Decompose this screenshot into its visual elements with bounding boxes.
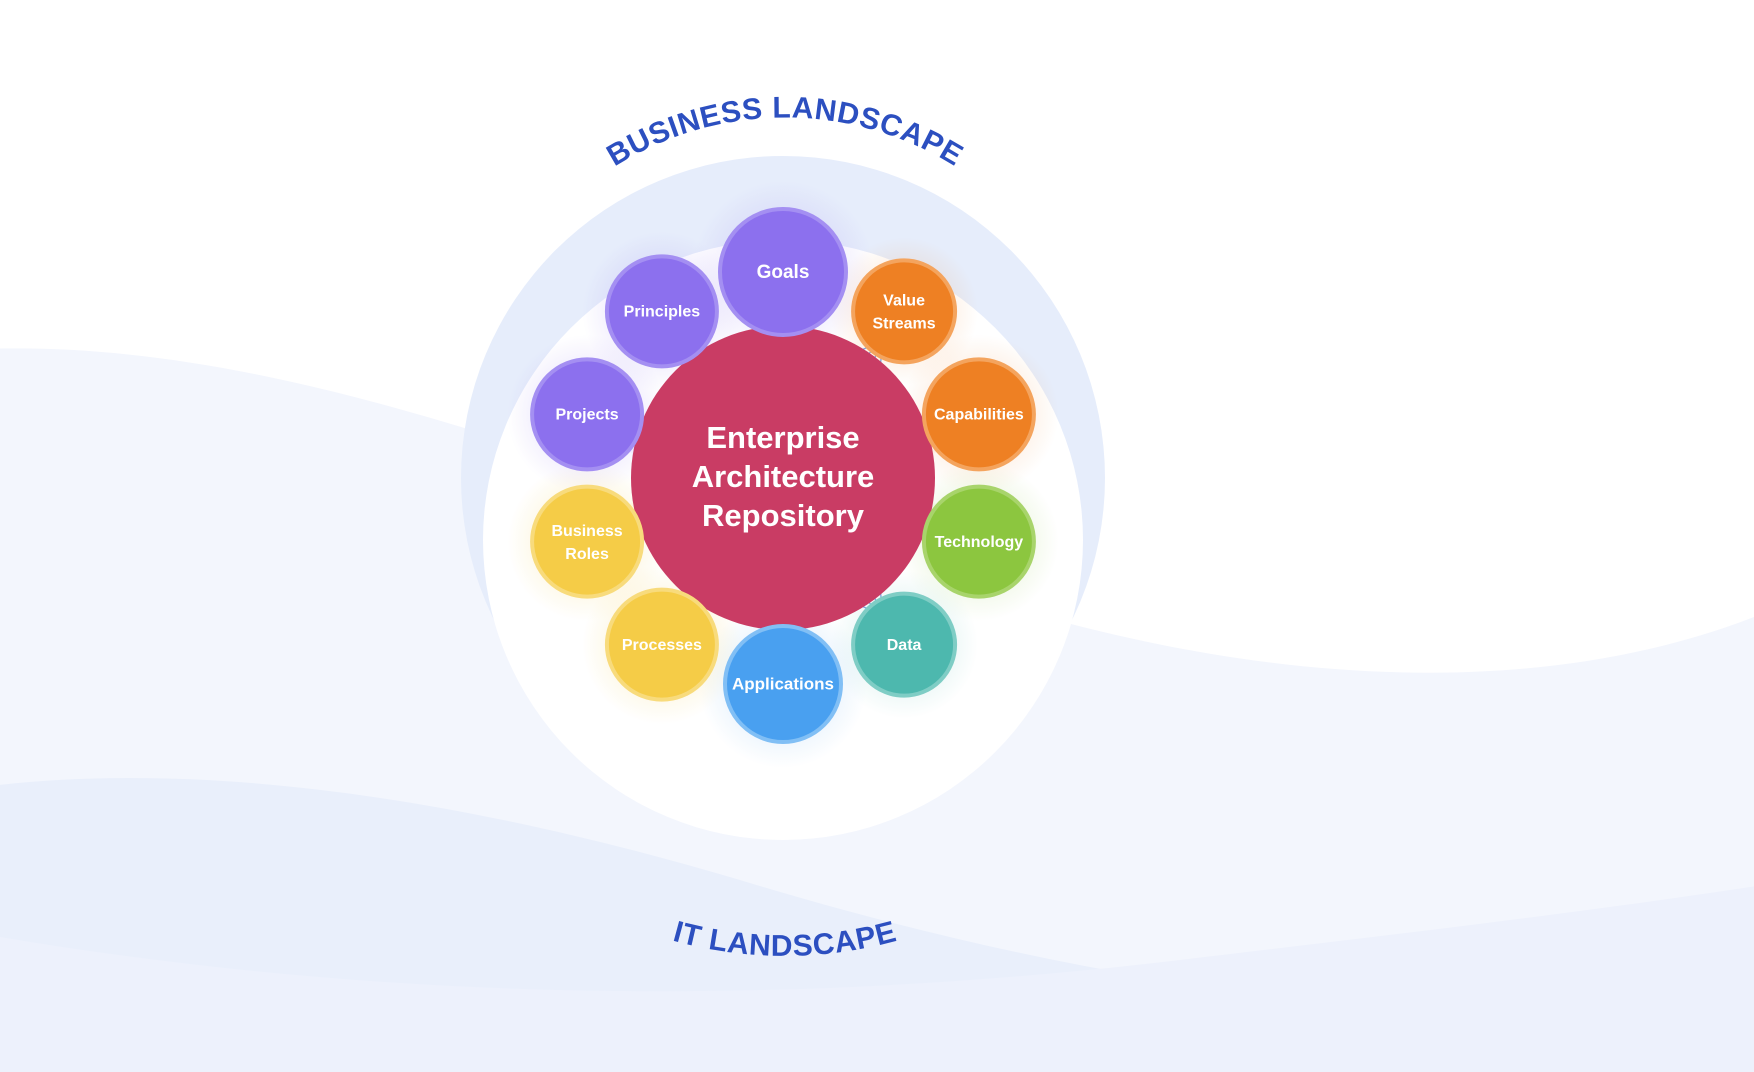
node-value-streams[interactable]: ValueStreams — [853, 260, 955, 362]
node-label-goals: Goals — [757, 262, 810, 283]
node-label-business-roles-line2: Roles — [565, 546, 609, 563]
diagram-canvas: Enterprise Architecture Repository Goals… — [0, 0, 1754, 1072]
enterprise-architecture-repository-diagram: Enterprise Architecture Repository Goals… — [0, 0, 1754, 1072]
node-capabilities[interactable]: Capabilities — [924, 359, 1034, 469]
node-principles[interactable]: Principles — [607, 256, 717, 366]
node-business-roles[interactable]: BusinessRoles — [532, 487, 642, 597]
node-label-value-streams-line2: Streams — [873, 316, 936, 333]
node-technology[interactable]: Technology — [924, 487, 1034, 597]
node-label-projects: Projects — [556, 407, 619, 424]
node-label-applications: Applications — [732, 674, 834, 693]
center-node-enterprise-architecture-repository[interactable]: Enterprise Architecture Repository — [631, 326, 935, 630]
node-projects[interactable]: Projects — [532, 359, 642, 469]
node-label-principles: Principles — [624, 304, 701, 321]
center-label-line3: Repository — [702, 498, 865, 533]
node-label-capabilities: Capabilities — [934, 407, 1024, 424]
node-label-technology: Technology — [935, 534, 1024, 551]
node-label-business-roles-line1: Business — [552, 523, 623, 540]
node-label-processes: Processes — [622, 637, 702, 654]
node-circle-value-streams[interactable] — [853, 260, 955, 362]
node-data[interactable]: Data — [853, 594, 955, 696]
node-circle-business-roles[interactable] — [532, 487, 642, 597]
node-processes[interactable]: Processes — [607, 590, 717, 700]
node-label-value-streams-line1: Value — [883, 293, 925, 310]
node-label-data: Data — [887, 637, 922, 654]
center-label-line1: Enterprise — [706, 420, 859, 455]
node-goals[interactable]: Goals — [720, 209, 846, 335]
center-label-line2: Architecture — [692, 459, 875, 494]
node-applications[interactable]: Applications — [725, 626, 841, 742]
